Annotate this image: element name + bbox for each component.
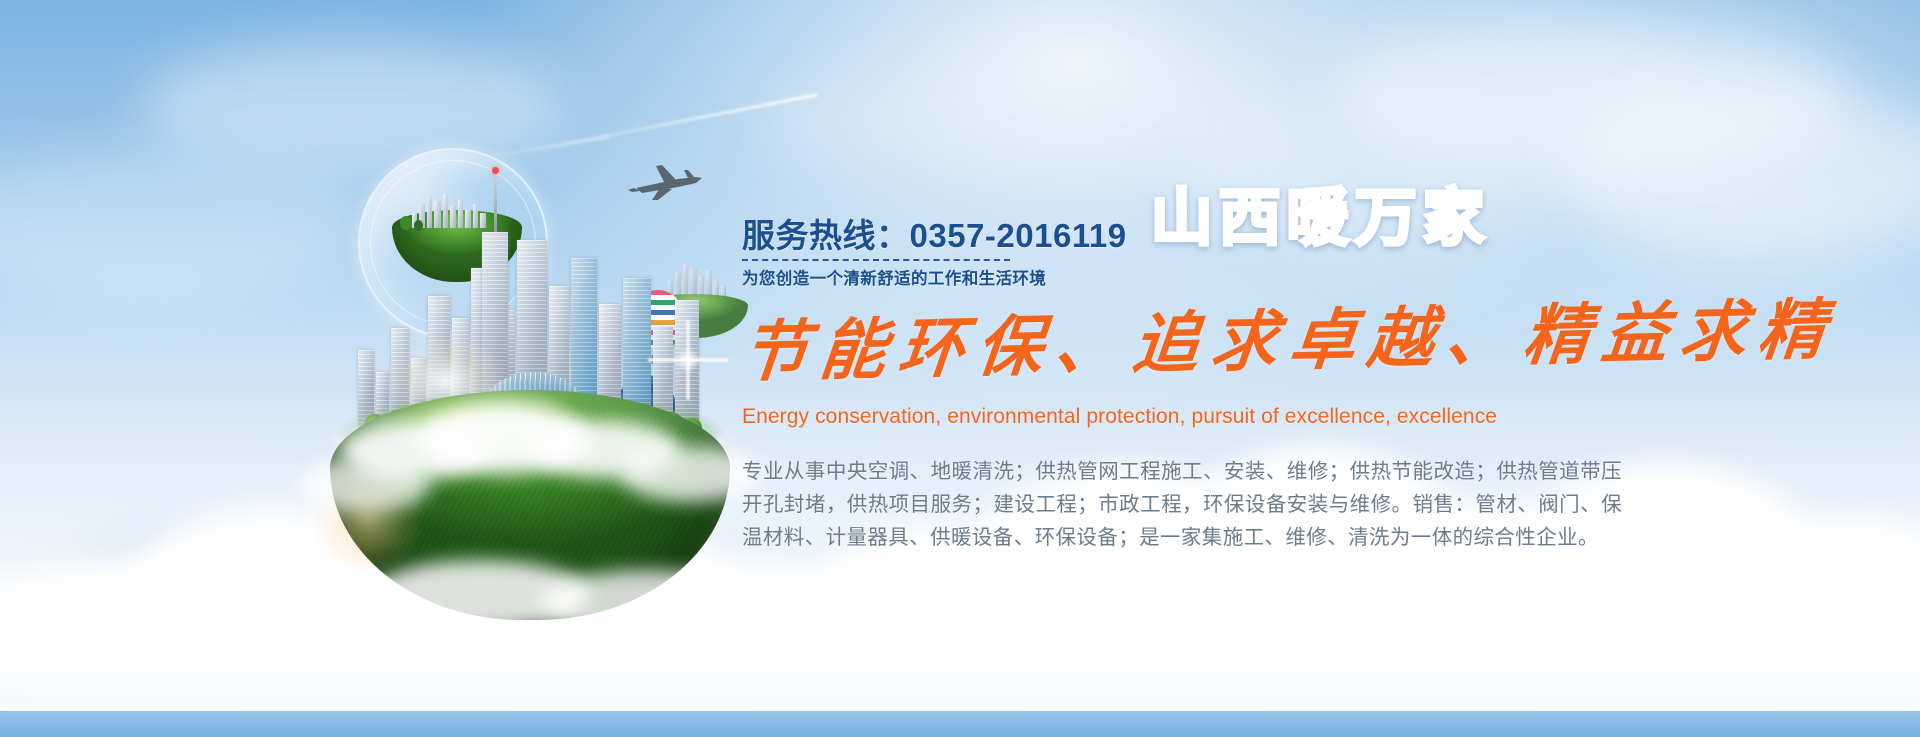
company-description: 专业从事中央空调、地暖清洗；供热管网工程施工、安装、维修；供热节能改造；供热管道… bbox=[742, 455, 1622, 555]
wispy-cloud bbox=[1330, 18, 1850, 168]
bottom-blue-strip bbox=[0, 711, 1920, 737]
island-cloud bbox=[300, 458, 430, 512]
banner-text-content: 服务热线：0357-2016119 为您创造一个清新舒适的工作和生活环境 山西暖… bbox=[742, 196, 1742, 554]
hotline-and-company-row: 服务热线：0357-2016119 为您创造一个清新舒适的工作和生活环境 山西暖… bbox=[742, 196, 1742, 289]
company-name: 山西暖万家 bbox=[1151, 188, 1491, 250]
wispy-cloud bbox=[760, 60, 1320, 180]
island-cloud bbox=[540, 570, 750, 636]
floating-island-illustration bbox=[330, 140, 760, 580]
service-hotline: 服务热线：0357-2016119 bbox=[742, 218, 1127, 254]
slogan-english: Energy conservation, environmental prote… bbox=[742, 405, 1742, 429]
slogan-chinese: 节能环保、追求卓越、精益求精 bbox=[738, 296, 1748, 388]
dashed-divider bbox=[742, 259, 1010, 261]
wispy-cloud bbox=[0, 150, 360, 300]
light-sparkle-icon bbox=[648, 320, 728, 400]
hotline-subtitle: 为您创造一个清新舒适的工作和生活环境 bbox=[742, 265, 1127, 289]
promotional-banner: 服务热线：0357-2016119 为您创造一个清新舒适的工作和生活环境 山西暖… bbox=[0, 0, 1920, 737]
airplane-icon bbox=[626, 162, 722, 206]
hotline-block: 服务热线：0357-2016119 为您创造一个清新舒适的工作和生活环境 bbox=[742, 208, 1127, 289]
island-cloud bbox=[620, 446, 760, 502]
